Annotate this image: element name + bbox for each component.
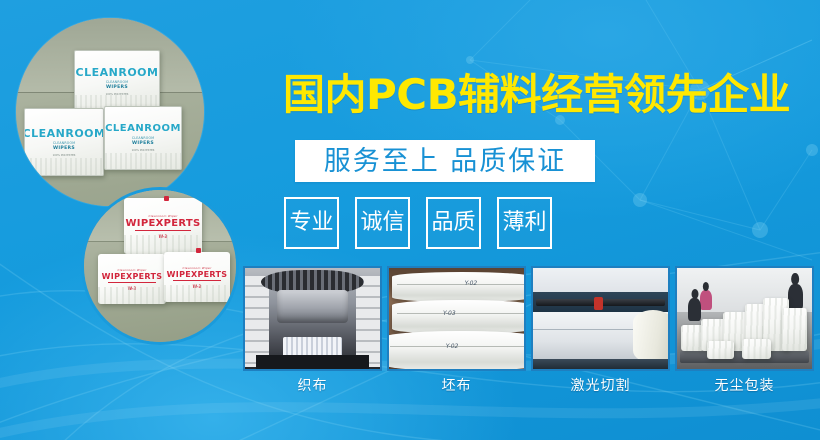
feature-tag-label: 专业	[289, 212, 333, 234]
feature-tag-label: 品质	[431, 212, 475, 234]
worker-figure	[688, 298, 702, 320]
package-seal-dot	[164, 196, 169, 201]
process-photo-thumbnail	[675, 266, 814, 371]
roll-label: Y-03	[443, 310, 456, 317]
fabric-rolls-photo: Y-02 Y-03 Y-02	[389, 268, 524, 369]
slogan-text: 服务至上 品质保证	[324, 148, 567, 175]
cleanroom-packing-photo	[677, 268, 812, 369]
roll-label: Y-02	[446, 343, 459, 350]
page-title: 国内PCB辅料经营领先企业	[283, 74, 790, 116]
product-package: CLEANROOM CLEANROOM WIPERS 100% POLYESTE…	[104, 106, 182, 170]
knitting-machine-photo	[245, 268, 380, 369]
feature-tag: 专业	[284, 197, 339, 249]
process-photo-caption: 无尘包装	[675, 379, 814, 393]
package-seal-dot	[196, 248, 201, 253]
cleanroom-wipers-photo: CLEANROOM CLEANROOM WIPERS 100% POLYESTE…	[16, 18, 204, 206]
product-circle-wipexperts: Cleanroom Wiper WIPEXPERTS W-3 Cleanroom…	[84, 190, 236, 342]
roll-label: Y-02	[465, 280, 478, 287]
product-package: CLEANROOM CLEANROOM WIPERS 100% POLYESTE…	[74, 50, 160, 112]
process-photo-strip: 织布 Y-02 Y-03 Y-02 坯布	[243, 266, 814, 393]
process-photo-caption: 坯布	[387, 379, 526, 393]
feature-tag-label: 诚信	[360, 212, 404, 234]
process-photo-item: Y-02 Y-03 Y-02 坯布	[387, 266, 526, 393]
product-package: Cleanroom Wiper WIPEXPERTS W-3	[124, 198, 202, 254]
feature-tag: 品质	[426, 197, 481, 249]
process-photo-thumbnail	[531, 266, 670, 371]
worker-figure	[700, 290, 712, 310]
product-circle-cleanroom: CLEANROOM CLEANROOM WIPERS 100% POLYESTE…	[16, 18, 204, 206]
product-package: Cleanroom Wiper WIPEXPERTS W-3	[98, 254, 166, 304]
process-photo-caption: 织布	[243, 379, 382, 393]
slogan-bar: 服务至上 品质保证	[295, 140, 595, 182]
process-photo-item: 无尘包装	[675, 266, 814, 393]
feature-tag: 薄利	[497, 197, 552, 249]
wipexperts-wipers-photo: Cleanroom Wiper WIPEXPERTS W-3 Cleanroom…	[84, 190, 236, 342]
process-photo-caption: 激光切割	[531, 379, 670, 393]
process-photo-thumbnail	[243, 266, 382, 371]
promotional-banner: CLEANROOM CLEANROOM WIPERS 100% POLYESTE…	[0, 0, 820, 440]
feature-tag-list: 专业 诚信 品质 薄利	[284, 197, 552, 249]
feature-tag: 诚信	[355, 197, 410, 249]
process-photo-item: 织布	[243, 266, 382, 393]
process-photo-thumbnail: Y-02 Y-03 Y-02	[387, 266, 526, 371]
laser-cutting-photo	[533, 268, 668, 369]
process-photo-item: 激光切割	[531, 266, 670, 393]
worker-figure	[788, 284, 803, 310]
product-package: CLEANROOM CLEANROOM WIPERS 100% POLYESTE…	[24, 108, 104, 176]
feature-tag-label: 薄利	[502, 212, 546, 234]
product-package: Cleanroom Wiper WIPEXPERTS W-3	[164, 252, 230, 302]
